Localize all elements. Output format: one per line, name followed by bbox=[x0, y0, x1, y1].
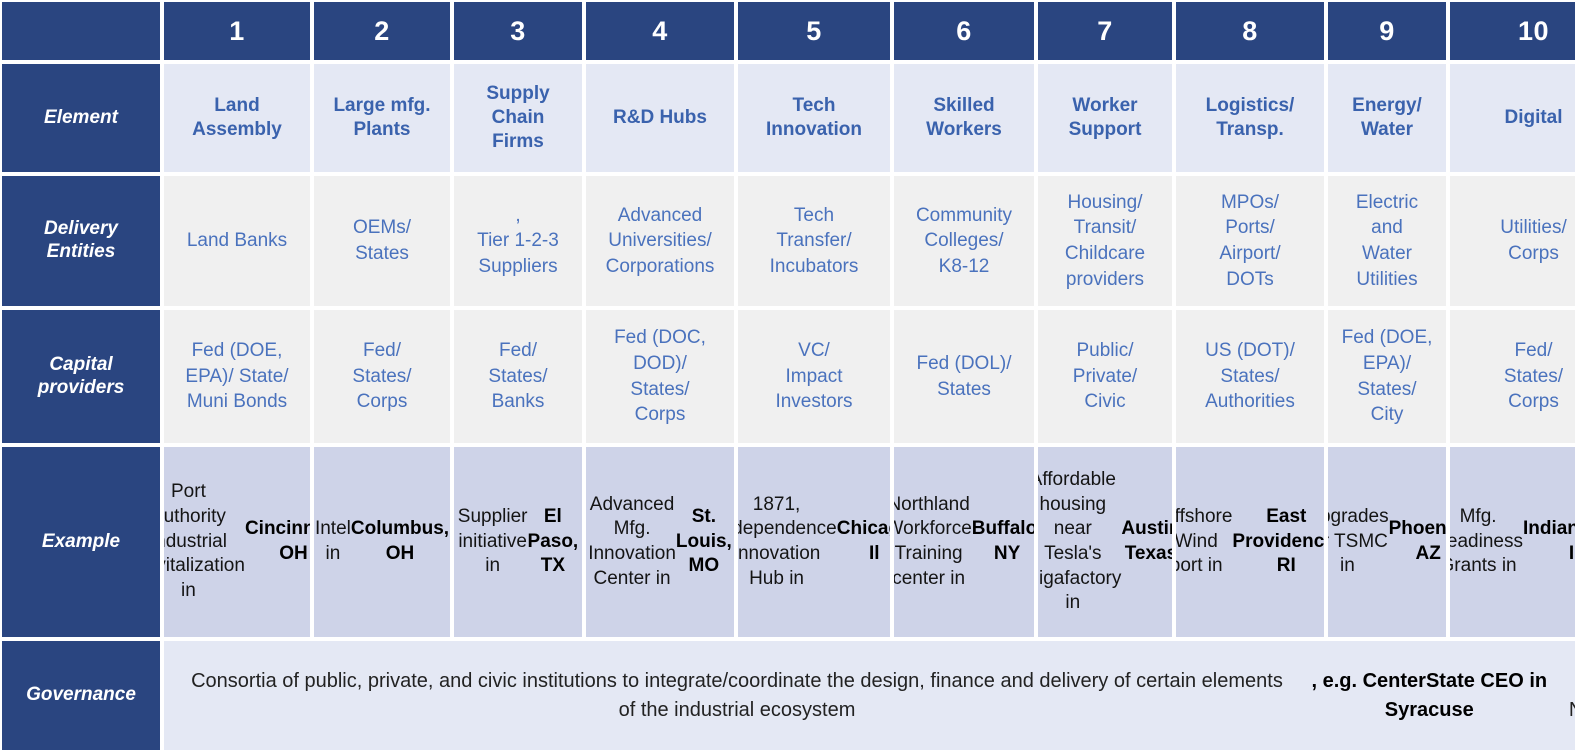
element-cell-6: Skilled Workers bbox=[894, 64, 1034, 172]
delivery-cell-6: Community Colleges/ K8-12 bbox=[894, 176, 1034, 306]
row-label-capital-providers: Capital providers bbox=[2, 310, 160, 443]
capital-cell-7: Public/ Private/ Civic bbox=[1038, 310, 1172, 443]
delivery-cell-5: Tech Transfer/ Incubators bbox=[738, 176, 890, 306]
example-cell-8: Offshore Wind port in East Providence, R… bbox=[1176, 447, 1324, 637]
capital-cell-3: Fed/ States/ Banks bbox=[454, 310, 582, 443]
column-header-6: 6 bbox=[894, 2, 1034, 60]
governance-statement: Consortia of public, private, and civic … bbox=[164, 641, 1575, 750]
example-cell-10: Mfg. Readiness Grants in Indianapolis IN bbox=[1450, 447, 1575, 637]
delivery-cell-3: , Tier 1-2-3 Suppliers bbox=[454, 176, 582, 306]
column-header-2: 2 bbox=[314, 2, 450, 60]
example-cell-6: Northland Workforce Training center in B… bbox=[894, 447, 1034, 637]
row-label-example: Example bbox=[2, 447, 160, 637]
capital-cell-5: VC/ Impact Investors bbox=[738, 310, 890, 443]
capital-cell-4: Fed (DOC, DOD)/ States/ Corps bbox=[586, 310, 734, 443]
column-header-7: 7 bbox=[1038, 2, 1172, 60]
column-header-9: 9 bbox=[1328, 2, 1446, 60]
ecosystem-elements-table: 1 2 3 4 5 6 7 8 9 10 Element Land Assemb… bbox=[0, 0, 1575, 728]
delivery-cell-9: Electric and Water Utilities bbox=[1328, 176, 1446, 306]
column-header-5: 5 bbox=[738, 2, 890, 60]
capital-cell-9: Fed (DOE, EPA)/ States/ City bbox=[1328, 310, 1446, 443]
delivery-cell-1: Land Banks bbox=[164, 176, 310, 306]
column-header-1: 1 bbox=[164, 2, 310, 60]
element-cell-8: Logistics/ Transp. bbox=[1176, 64, 1324, 172]
element-cell-5: Tech Innovation bbox=[738, 64, 890, 172]
element-cell-1: Land Assembly bbox=[164, 64, 310, 172]
element-cell-7: Worker Support bbox=[1038, 64, 1172, 172]
column-header-4: 4 bbox=[586, 2, 734, 60]
capital-cell-8: US (DOT)/ States/ Authorities bbox=[1176, 310, 1324, 443]
delivery-cell-4: Advanced Universities/ Corporations bbox=[586, 176, 734, 306]
example-cell-2: Intel in Columbus, OH bbox=[314, 447, 450, 637]
capital-cell-10: Fed/ States/ Corps bbox=[1450, 310, 1575, 443]
element-cell-4: R&D Hubs bbox=[586, 64, 734, 172]
delivery-cell-2: OEMs/ States bbox=[314, 176, 450, 306]
example-cell-1: Port Authority Industrial Revitalization… bbox=[164, 447, 310, 637]
column-header-10: 10 bbox=[1450, 2, 1575, 60]
example-cell-4: Advanced Mfg. Innovation Center in St. L… bbox=[586, 447, 734, 637]
element-cell-2: Large mfg. Plants bbox=[314, 64, 450, 172]
column-header-3: 3 bbox=[454, 2, 582, 60]
capital-cell-2: Fed/ States/ Corps bbox=[314, 310, 450, 443]
capital-cell-1: Fed (DOE, EPA)/ State/ Muni Bonds bbox=[164, 310, 310, 443]
example-cell-5: 1871, Independence Innovation Hub in Chi… bbox=[738, 447, 890, 637]
column-header-8: 8 bbox=[1176, 2, 1324, 60]
row-label-element: Element bbox=[2, 64, 160, 172]
row-label-governance: Governance bbox=[2, 641, 160, 750]
element-cell-9: Energy/ Water bbox=[1328, 64, 1446, 172]
example-cell-9: Upgrades for TSMC in Phoenix, AZ bbox=[1328, 447, 1446, 637]
example-cell-7: Affordable housing near Tesla's Gigafact… bbox=[1038, 447, 1172, 637]
delivery-cell-10: Utilities/ Corps bbox=[1450, 176, 1575, 306]
element-cell-10: Digital bbox=[1450, 64, 1575, 172]
element-cell-3: Supply Chain Firms bbox=[454, 64, 582, 172]
delivery-cell-7: Housing/ Transit/ Childcare providers bbox=[1038, 176, 1172, 306]
row-label-delivery-entities: Delivery Entities bbox=[2, 176, 160, 306]
example-cell-3: Supplier initiative in El Paso, TX bbox=[454, 447, 582, 637]
delivery-cell-8: MPOs/ Ports/ Airport/ DOTs bbox=[1176, 176, 1324, 306]
table-corner-cell bbox=[2, 2, 160, 60]
capital-cell-6: Fed (DOL)/ States bbox=[894, 310, 1034, 443]
